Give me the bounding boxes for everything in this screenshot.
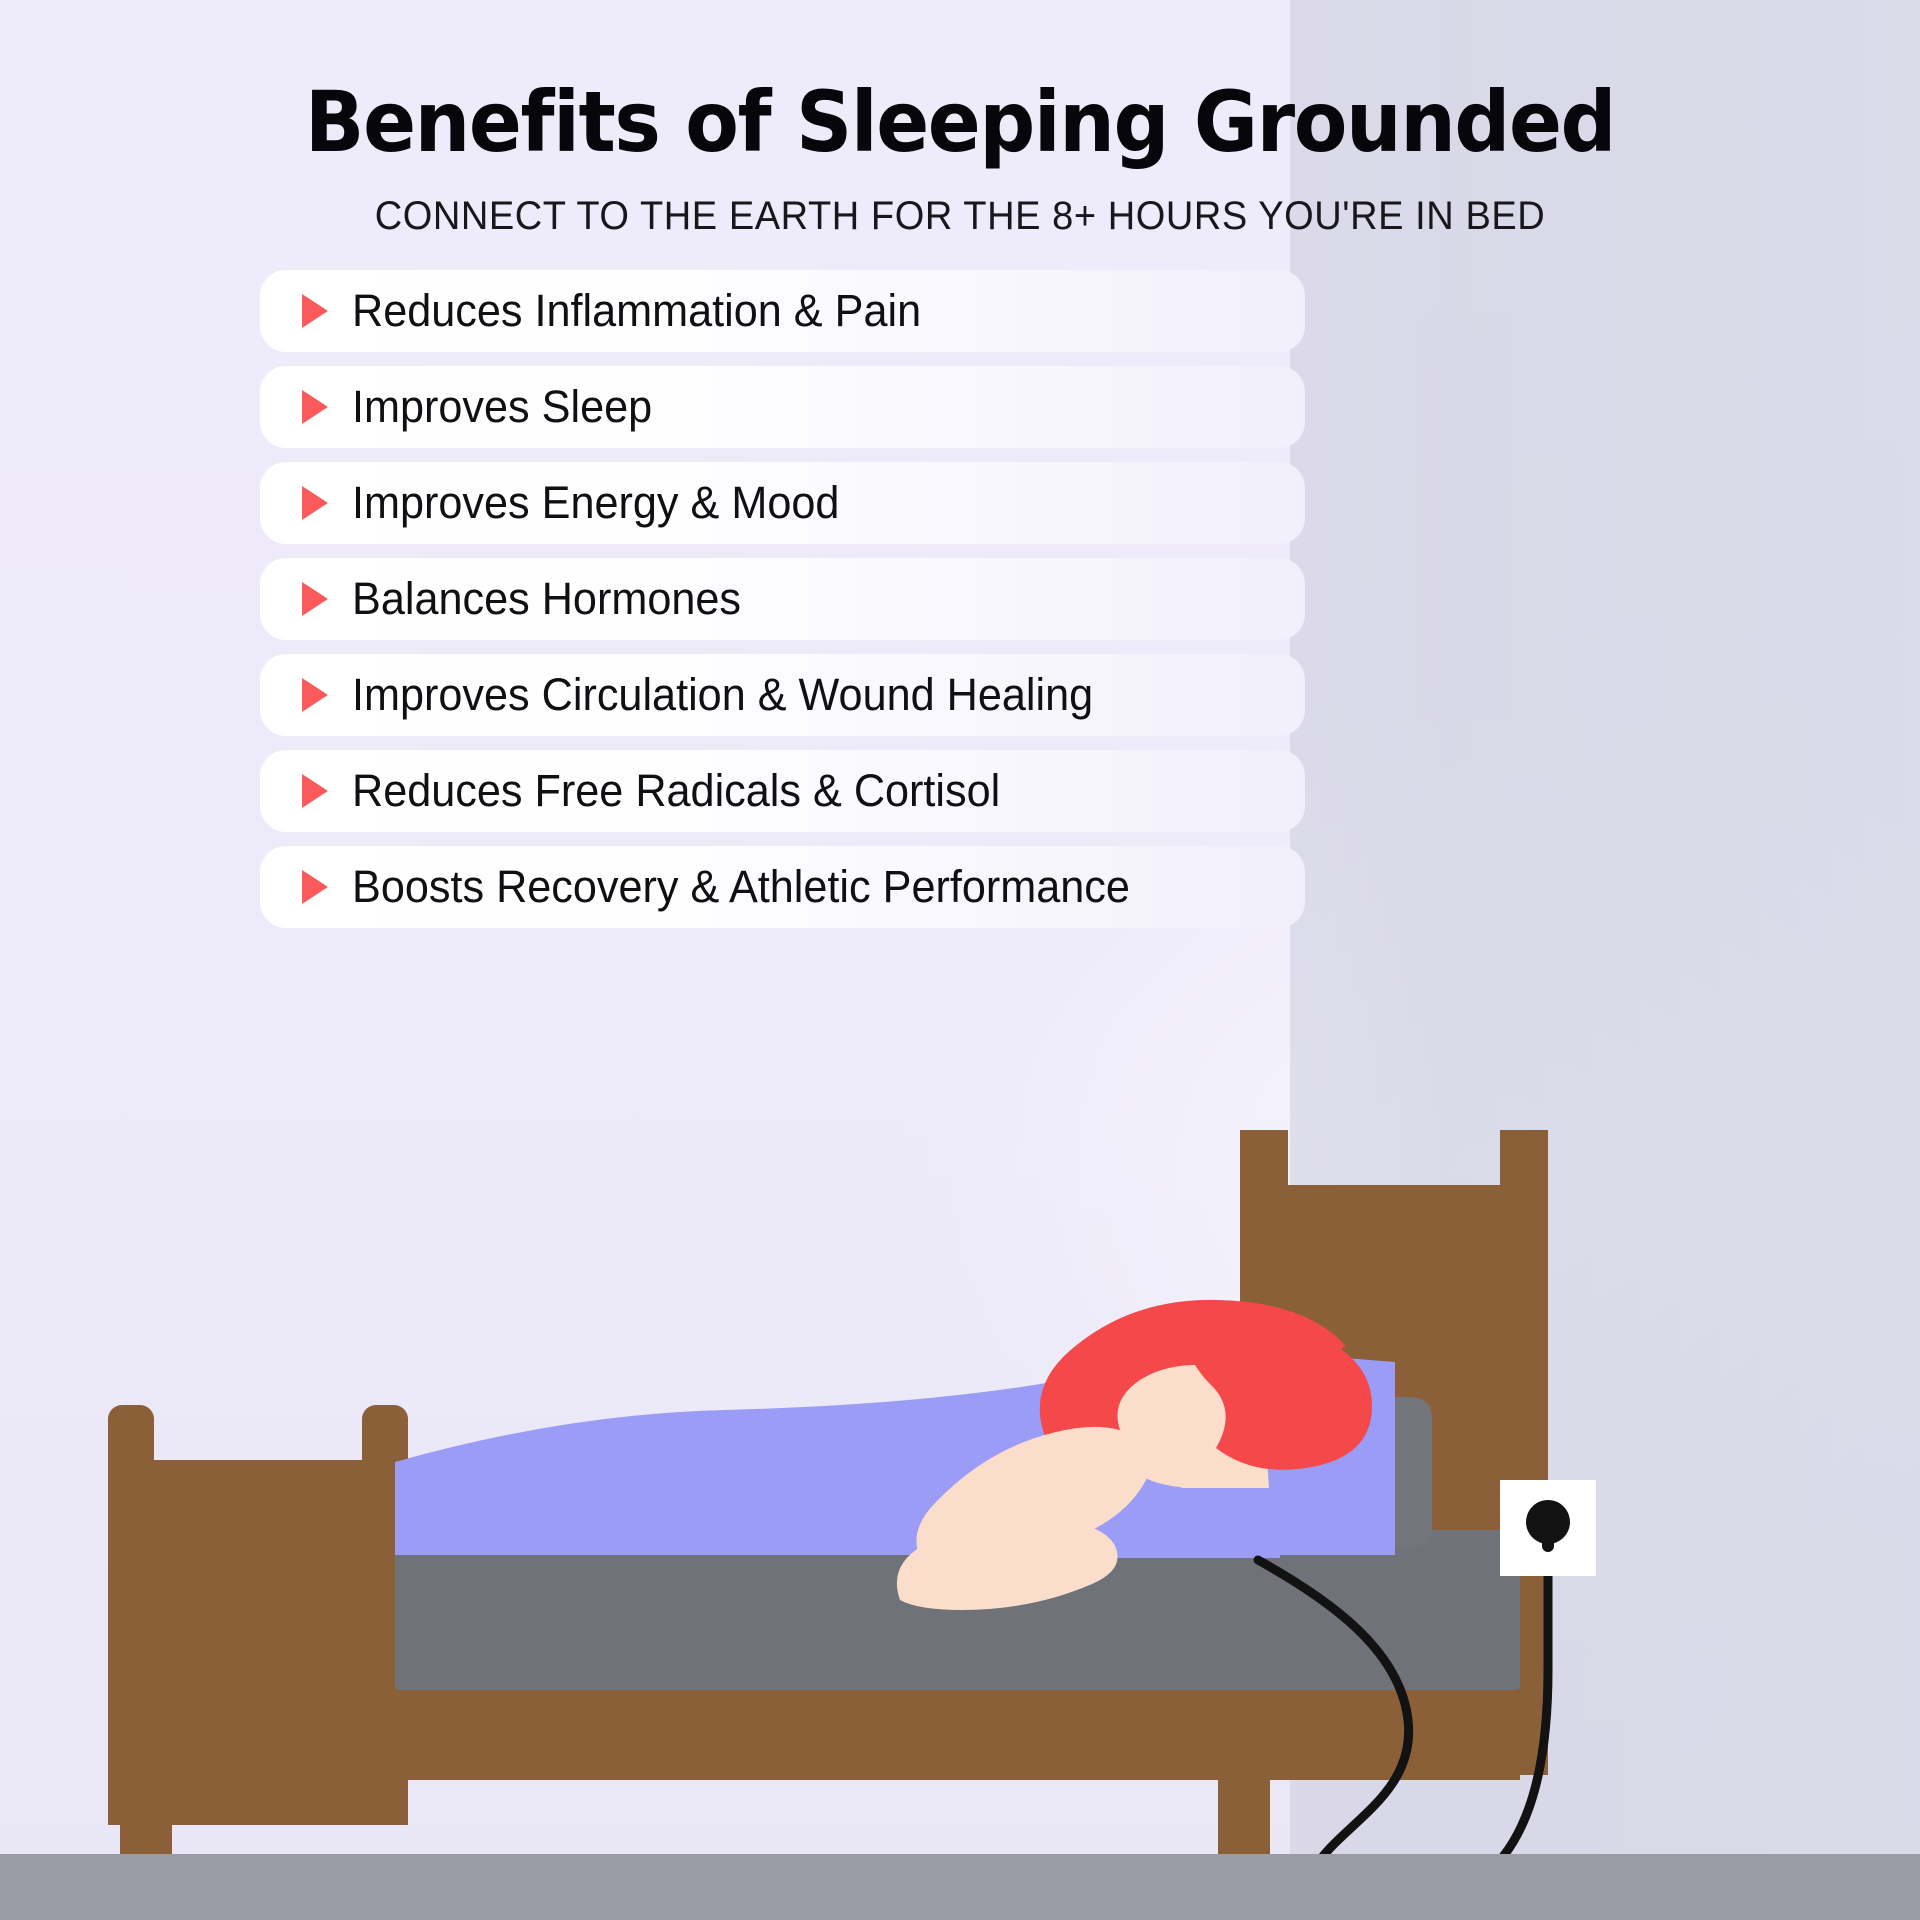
list-item[interactable]: Reduces Inflammation & Pain: [260, 270, 1305, 352]
list-item-label: Improves Energy & Mood: [352, 477, 839, 529]
list-item[interactable]: Balances Hormones: [260, 558, 1305, 640]
infographic-canvas: Benefits of Sleeping Grounded CONNECT TO…: [0, 0, 1920, 1920]
list-item-label: Improves Sleep: [352, 381, 652, 433]
list-item-label: Reduces Free Radicals & Cortisol: [352, 765, 1000, 817]
triangle-bullet-icon: [302, 774, 328, 808]
page-title: Benefits of Sleeping Grounded: [67, 78, 1853, 166]
list-item[interactable]: Improves Circulation & Wound Healing: [260, 654, 1305, 736]
list-item-label: Balances Hormones: [352, 573, 741, 625]
benefits-list: Reduces Inflammation & Pain Improves Sle…: [260, 270, 1305, 942]
footboard: [108, 1405, 408, 1825]
triangle-bullet-icon: [302, 582, 328, 616]
list-item[interactable]: Improves Energy & Mood: [260, 462, 1305, 544]
list-item-label: Boosts Recovery & Athletic Performance: [352, 861, 1130, 913]
list-item-label: Reduces Inflammation & Pain: [352, 285, 921, 337]
list-item[interactable]: Reduces Free Radicals & Cortisol: [260, 750, 1305, 832]
floor: [0, 1854, 1920, 1920]
list-item-label: Improves Circulation & Wound Healing: [352, 669, 1093, 721]
header: Benefits of Sleeping Grounded CONNECT TO…: [0, 0, 1920, 239]
triangle-bullet-icon: [302, 870, 328, 904]
triangle-bullet-icon: [302, 390, 328, 424]
triangle-bullet-icon: [302, 486, 328, 520]
list-item[interactable]: Boosts Recovery & Athletic Performance: [260, 846, 1305, 928]
page-subtitle: CONNECT TO THE EARTH FOR THE 8+ HOURS YO…: [48, 194, 1872, 239]
triangle-bullet-icon: [302, 678, 328, 712]
wall-outlet: [1500, 1480, 1596, 1576]
triangle-bullet-icon: [302, 294, 328, 328]
list-item[interactable]: Improves Sleep: [260, 366, 1305, 448]
bed-illustration: [0, 1130, 1920, 1920]
